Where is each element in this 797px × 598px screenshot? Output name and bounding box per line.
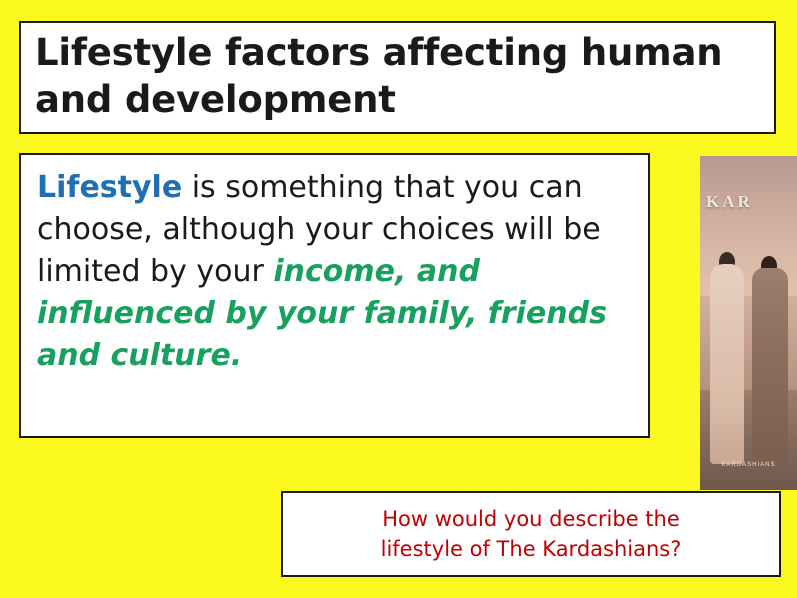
page-title-line-2: and development (35, 76, 760, 123)
photo-person-left (710, 264, 744, 464)
title-box: Lifestyle factors affecting human and de… (19, 21, 776, 134)
question-line-2: lifestyle of The Kardashians? (381, 534, 682, 564)
question-line-1: How would you describe the (382, 504, 680, 534)
question-box: How would you describe the lifestyle of … (281, 491, 781, 577)
slide-canvas: Lifestyle factors affecting human and de… (0, 0, 797, 598)
kardashians-photo: KAR KARDASHIANS (700, 156, 797, 490)
page-title-line-1: Lifestyle factors affecting human (35, 29, 760, 76)
body-keyword-lifestyle: Lifestyle (37, 170, 182, 205)
photo-title-overlay: KAR (706, 192, 753, 212)
photo-caption: KARDASHIANS (700, 462, 797, 468)
body-text-box: Lifestyle is something that you can choo… (19, 153, 650, 438)
photo-person-right (752, 268, 788, 464)
body-paragraph: Lifestyle is something that you can choo… (37, 167, 632, 377)
